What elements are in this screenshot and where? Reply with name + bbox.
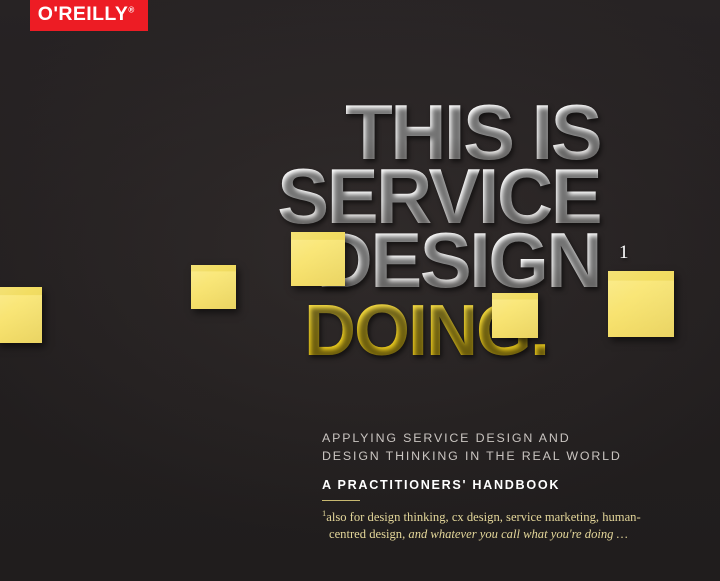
subtitle-line-1: APPLYING SERVICE DESIGN AND xyxy=(322,430,692,448)
sticky-note-right xyxy=(608,271,674,337)
sticky-note-far-left xyxy=(0,287,42,343)
footnote-text-part-1: also for design thinking, cx design, ser… xyxy=(326,510,640,524)
subtitle-line-2: DESIGN THINKING IN THE REAL WORLD xyxy=(322,448,692,466)
subtitle-handbook-line: A PRACTITIONERS' HANDBOOK xyxy=(322,478,692,492)
oreilly-wordmark-text: O'REILLY xyxy=(38,3,129,25)
footnote-text-italic: and whatever you call what you're doing … xyxy=(408,527,627,541)
title-footnote-marker: 1 xyxy=(619,243,629,262)
book-cover: O'REILLY® THIS IS SERVICE DESIGN DOING. … xyxy=(0,0,720,581)
sticky-note-left xyxy=(191,265,236,309)
footnote-block: 1also for design thinking, cx design, se… xyxy=(322,500,690,542)
title-line-design: DESIGN xyxy=(317,228,600,292)
sticky-note-center xyxy=(291,232,345,286)
registered-trademark-icon: ® xyxy=(128,6,134,15)
footnote-rule xyxy=(322,500,360,501)
footnote-text-line-2: centred design, and whatever you call wh… xyxy=(322,526,690,543)
footnote-text: 1also for design thinking, cx design, se… xyxy=(322,509,690,542)
oreilly-wordmark: O'REILLY® xyxy=(38,5,134,25)
subtitle-block: APPLYING SERVICE DESIGN AND DESIGN THINK… xyxy=(322,430,692,492)
footnote-text-part-2: centred design, xyxy=(329,527,408,541)
oreilly-logo: O'REILLY® xyxy=(30,0,148,31)
sticky-note-mid-right xyxy=(492,293,538,338)
